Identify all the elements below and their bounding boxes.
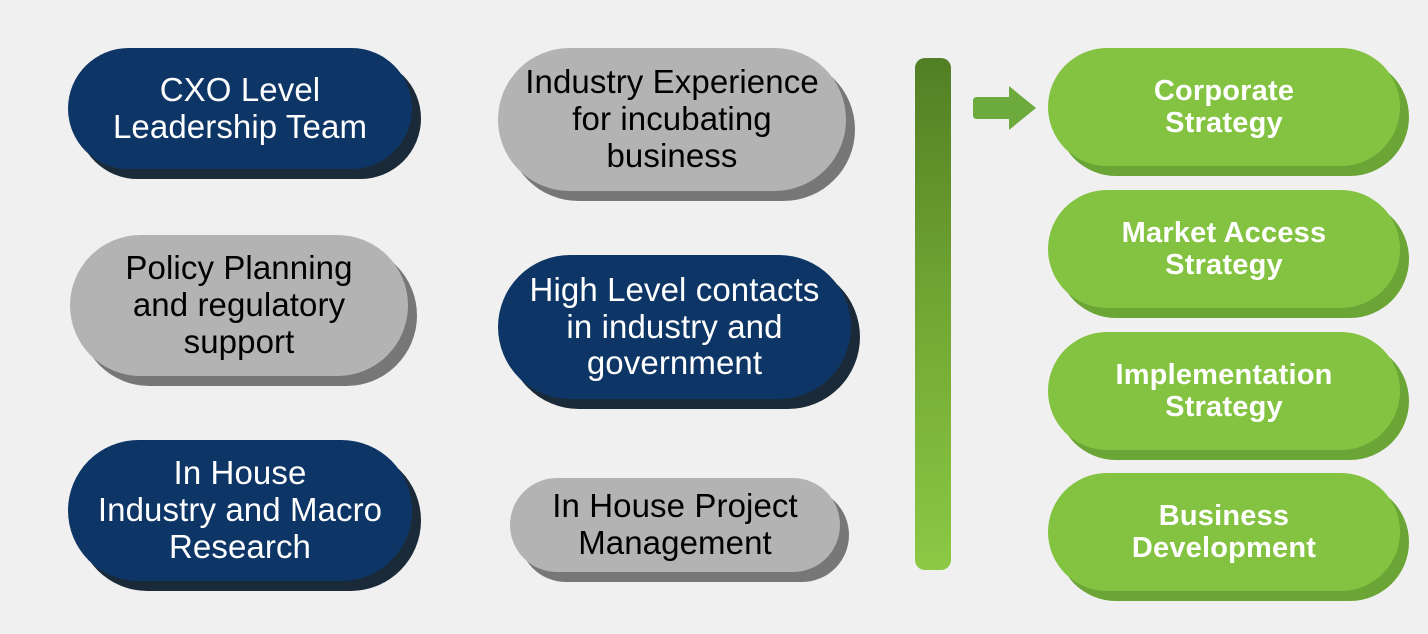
outcome-card-market-access-strategy[interactable]: Market Access Strategy [1048,190,1400,308]
card-label: Business Development [1074,500,1374,565]
card-label: Corporate Strategy [1074,75,1374,140]
diagram-canvas: CXO Level Leadership Team Policy Plannin… [0,0,1428,634]
card-label: Policy Planning and regulatory support [96,250,382,361]
outcome-card-implementation-strategy[interactable]: Implementation Strategy [1048,332,1400,450]
card-label: Market Access Strategy [1074,217,1374,282]
card-label: CXO Level Leadership Team [94,72,386,146]
outcome-card-corporate-strategy[interactable]: Corporate Strategy [1048,48,1400,166]
capability-card-in-house-industry-and-macro-research[interactable]: In House Industry and Macro Research [68,440,412,581]
capability-card-cxo-level-leadership-team[interactable]: CXO Level Leadership Team [68,48,412,169]
capability-card-in-house-project-management[interactable]: In House Project Management [510,478,840,572]
vertical-gradient-bar [915,58,951,570]
card-label: In House Industry and Macro Research [94,455,386,566]
card-label: Industry Experience for incubating busin… [524,64,820,175]
capability-card-policy-planning-and-regulatory-support[interactable]: Policy Planning and regulatory support [70,235,408,376]
card-label: In House Project Management [536,488,814,562]
outcome-card-business-development[interactable]: Business Development [1048,473,1400,591]
right-arrow-icon [968,84,1038,132]
card-label: High Level contacts in industry and gove… [524,272,825,383]
capability-card-industry-experience-for-incubating-business[interactable]: Industry Experience for incubating busin… [498,48,846,191]
card-label: Implementation Strategy [1074,359,1374,424]
capability-card-high-level-contacts-in-industry-and-government[interactable]: High Level contacts in industry and gove… [498,255,851,399]
